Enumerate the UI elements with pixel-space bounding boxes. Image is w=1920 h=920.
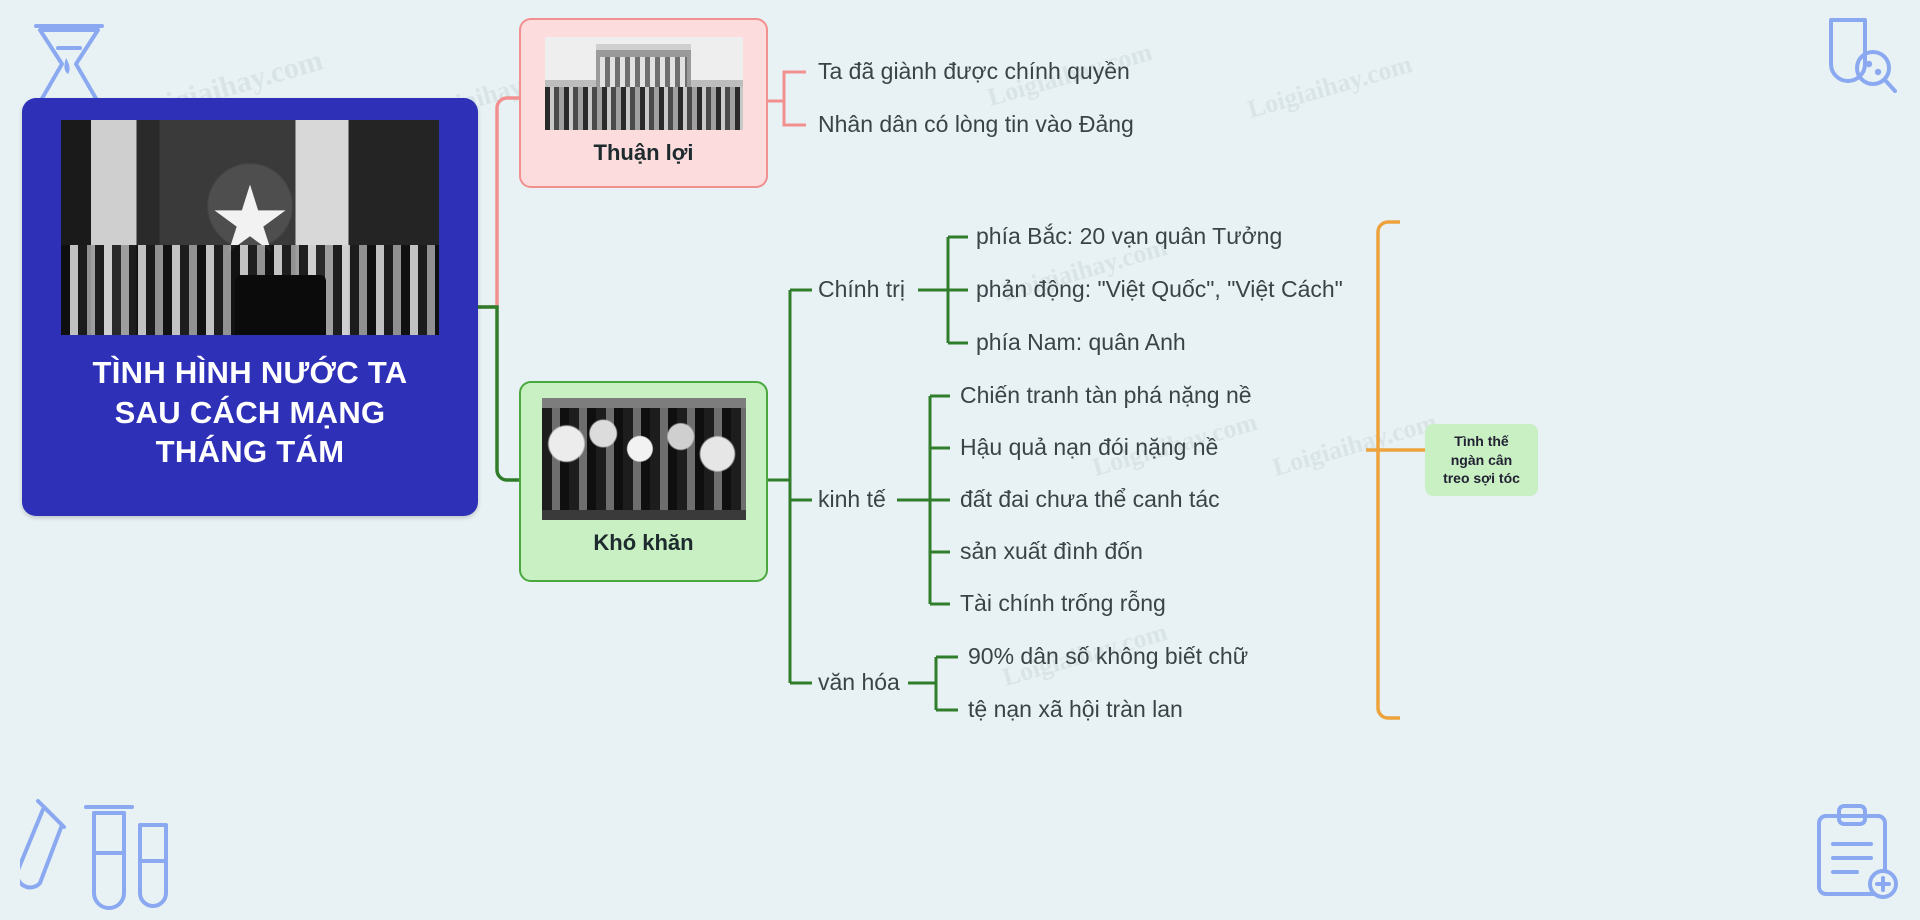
magnifier-flask-icon (1815, 10, 1905, 100)
watermark: Loigiaihay.com (1244, 49, 1415, 125)
summary-line-1: Tình thế (1443, 432, 1520, 450)
leaf-thuan-loi-1: Ta đã giành được chính quyền (818, 60, 1130, 83)
leaf-van-hoa-2: tệ nạn xã hội tràn lan (968, 698, 1183, 721)
branch-card-kho-khan[interactable]: Khó khăn (519, 381, 768, 582)
summary-line-2: ngàn cân (1443, 451, 1520, 469)
test-tubes-icon (20, 795, 180, 915)
leaf-thuan-loi-2: Nhân dân có lòng tin vào Đảng (818, 113, 1134, 136)
leaf-kinh-te-3: đất đai chưa thể canh tác (960, 488, 1220, 511)
leaf-van-hoa-1: 90% dân số không biết chữ (968, 645, 1248, 668)
category-label-van-hoa: văn hóa (818, 671, 900, 694)
thuan-loi-photo (545, 37, 743, 130)
mindmap-canvas: Loigiaihay.com Loigiaihay.com Loigiaihay… (0, 0, 1920, 920)
category-label-kinh-te: kinh tế (818, 488, 886, 511)
clipboard-icon (1805, 800, 1905, 905)
central-title-line-1: TÌNH HÌNH NƯỚC TA (93, 353, 408, 393)
summary-box[interactable]: Tình thế ngàn cân treo sợi tóc (1425, 424, 1538, 496)
leaf-kinh-te-4: sản xuất đình đốn (960, 540, 1143, 563)
leaf-chinh-tri-3: phía Nam: quân Anh (976, 331, 1186, 354)
summary-line-3: treo sợi tóc (1443, 469, 1520, 487)
central-photo (61, 120, 439, 335)
category-label-chinh-tri: Chính trị (818, 278, 905, 301)
watermark: Loigiaihay.com (1269, 407, 1440, 483)
leaf-chinh-tri-1: phía Bắc: 20 vạn quân Tưởng (976, 225, 1282, 248)
central-title-line-2: SAU CÁCH MẠNG (93, 393, 408, 433)
leaf-kinh-te-5: Tài chính trống rỗng (960, 592, 1166, 615)
branch-card-thuan-loi[interactable]: Thuận lợi (519, 18, 768, 188)
page-title: TÌNH HÌNH NƯỚC TA SAU CÁCH MẠNG THÁNG TÁ… (93, 353, 408, 472)
central-node[interactable]: TÌNH HÌNH NƯỚC TA SAU CÁCH MẠNG THÁNG TÁ… (22, 98, 478, 516)
leaf-kinh-te-1: Chiến tranh tàn phá nặng nề (960, 384, 1252, 407)
branch-label-thuan-loi: Thuận lợi (594, 140, 694, 166)
central-title-line-3: THÁNG TÁM (93, 432, 408, 472)
branch-label-kho-khan: Khó khăn (593, 530, 693, 556)
leaf-kinh-te-2: Hậu quả nạn đói nặng nề (960, 436, 1218, 459)
leaf-chinh-tri-2: phản động: "Việt Quốc", "Việt Cách" (976, 278, 1343, 301)
kho-khan-photo (542, 398, 746, 520)
